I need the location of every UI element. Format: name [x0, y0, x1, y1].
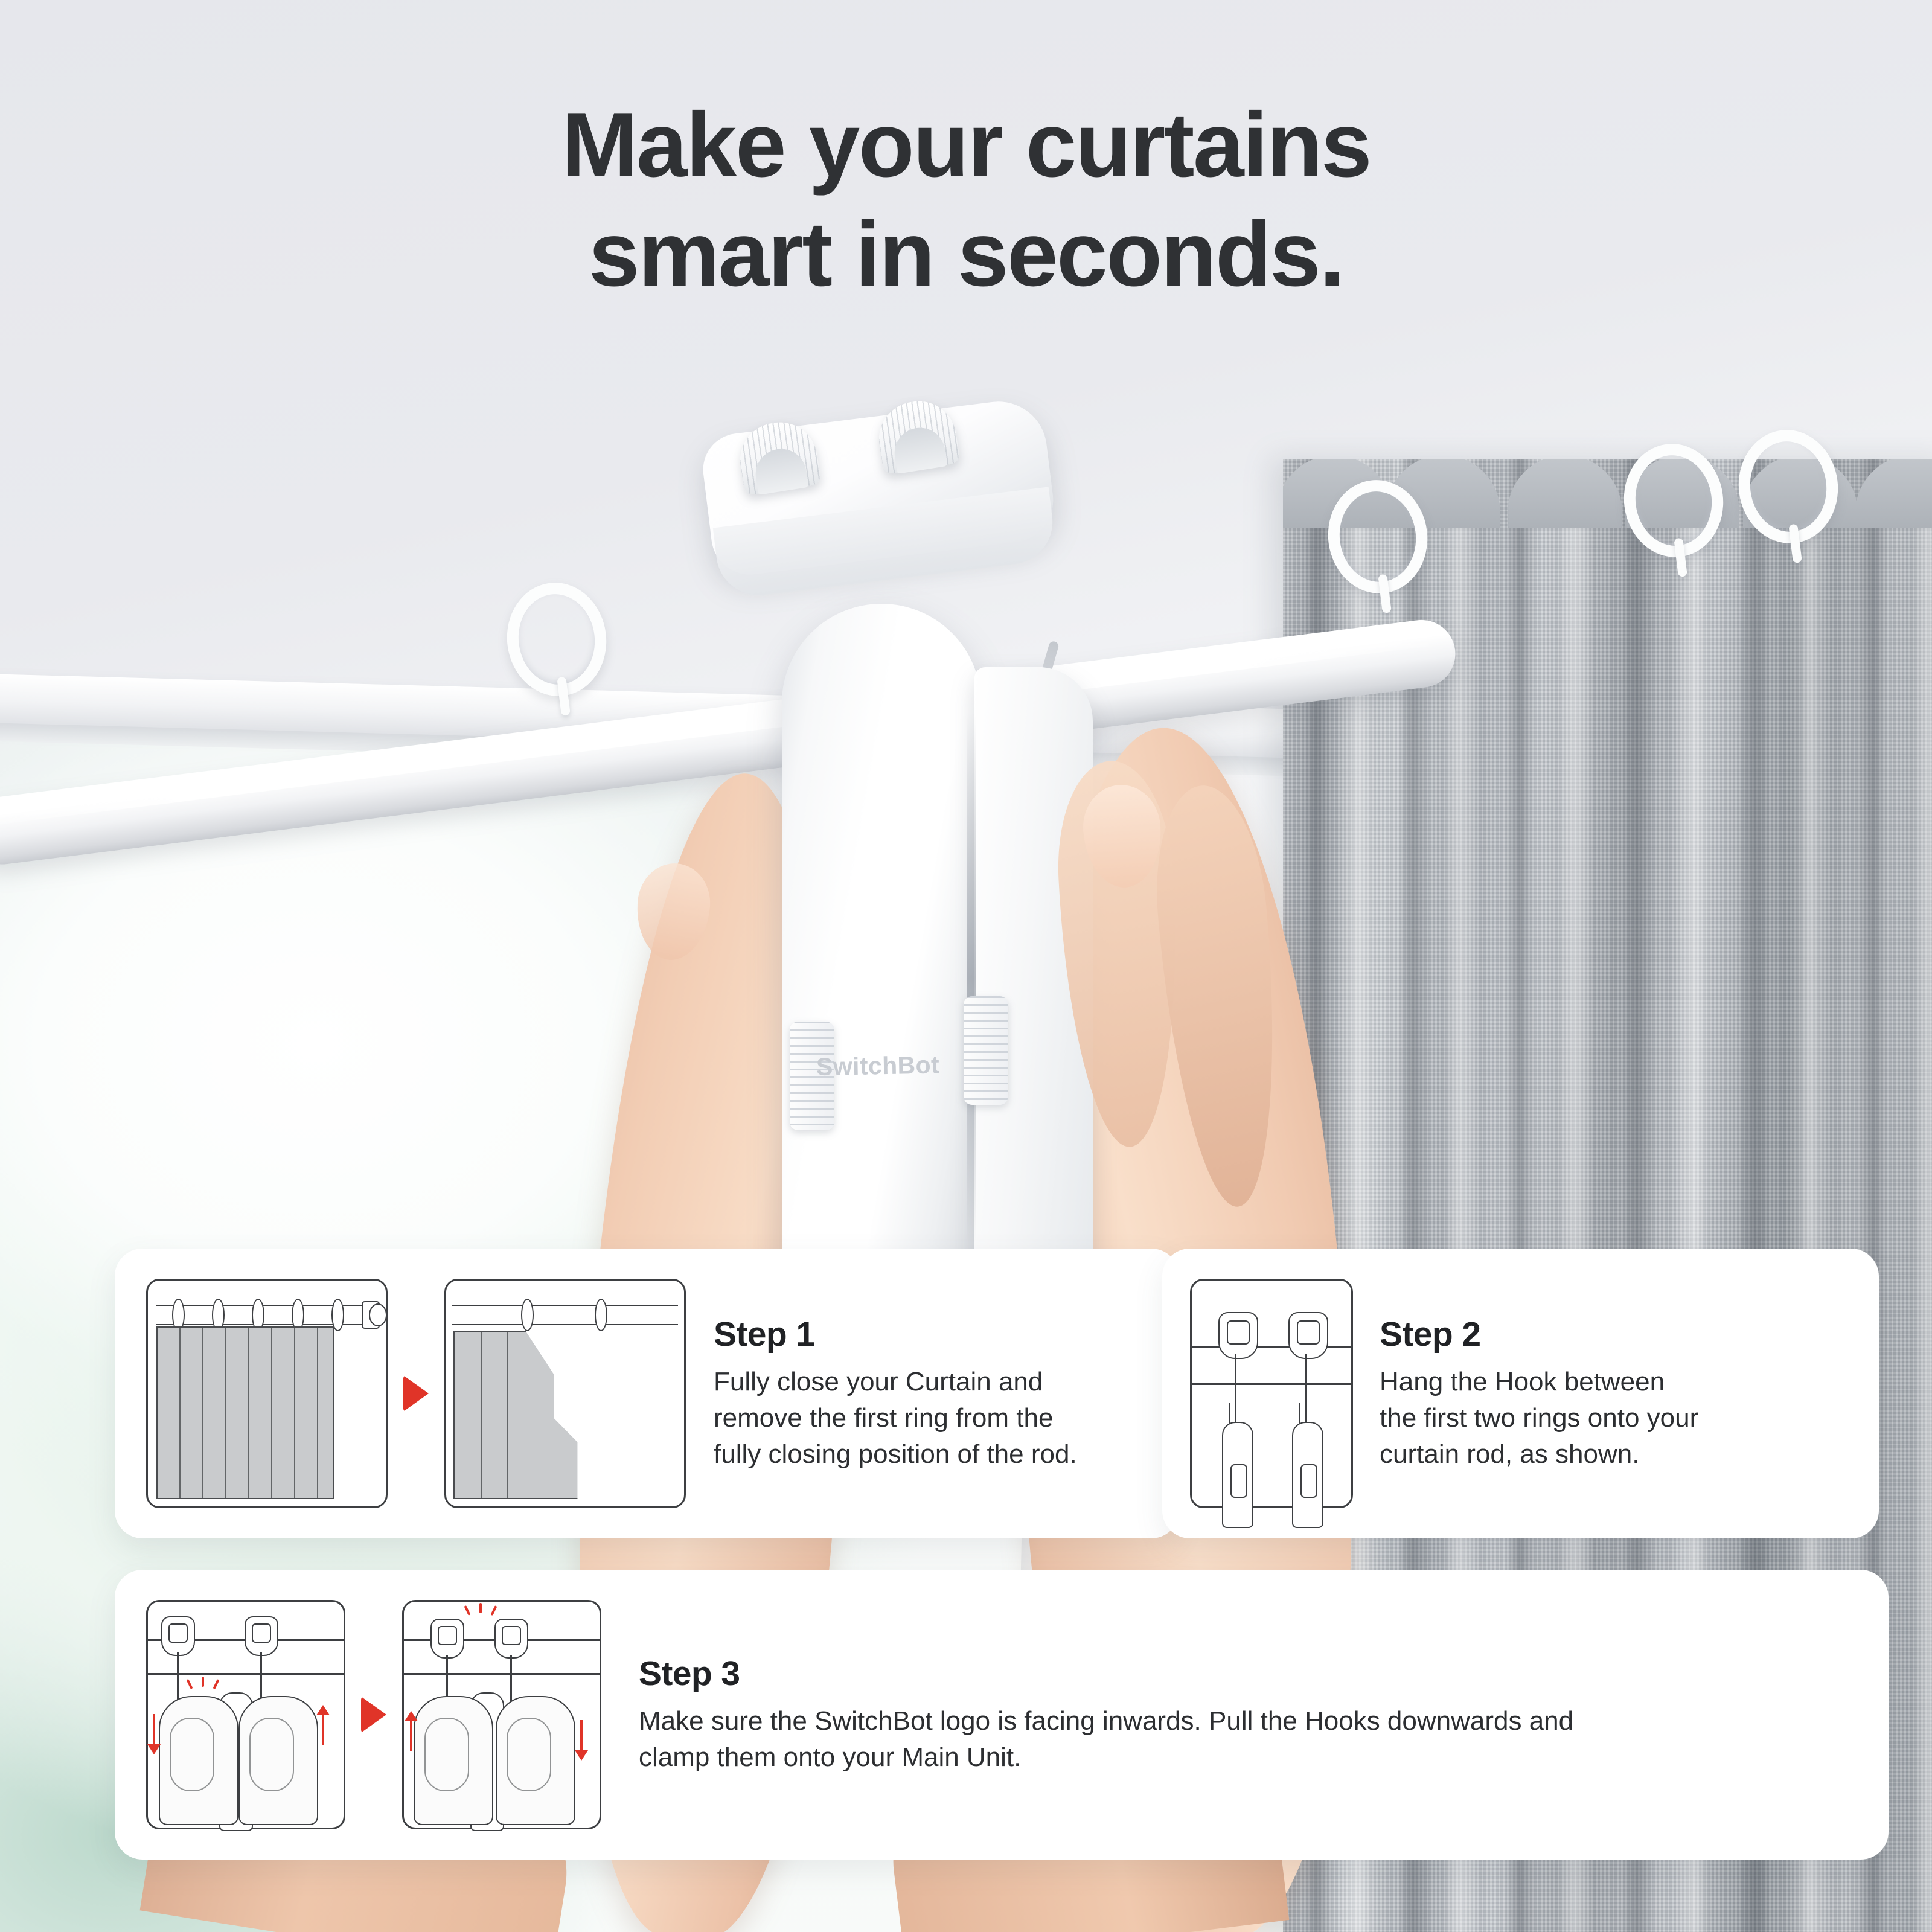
arrow-up-icon: [322, 1714, 324, 1745]
hook-illustration: [1286, 1312, 1331, 1359]
step-1-card: Step 1 Fully close your Curtain and remo…: [115, 1249, 1179, 1538]
step-1-diagram: [146, 1279, 686, 1508]
step-2-body: Hang the Hook between the first two ring…: [1380, 1364, 1706, 1473]
unit-seam-line: [967, 712, 976, 1244]
hook-illustration: [1216, 1312, 1261, 1359]
hooks-clamped-figure: [402, 1600, 601, 1829]
switchbot-logo: SwitchBot: [816, 1051, 956, 1081]
step-2-text: Step 2 Hang the Hook between the first t…: [1380, 1314, 1851, 1473]
headline-line-2: smart in seconds.: [0, 200, 1932, 309]
step-3-body: Make sure the SwitchBot logo is facing i…: [639, 1703, 1581, 1776]
pull-hooks-figure: [146, 1600, 345, 1829]
arrow-up-icon: [410, 1720, 412, 1751]
step-3-text: Step 3 Make sure the SwitchBot logo is f…: [639, 1654, 1855, 1776]
sparkle-icon: [462, 1603, 500, 1619]
step-3-progress-arrow-icon: [361, 1697, 386, 1733]
arrow-down-icon: [153, 1714, 155, 1745]
step-1-title: Step 1: [714, 1314, 1145, 1354]
step-2-title: Step 2: [1380, 1314, 1851, 1354]
sparkle-icon: [185, 1677, 222, 1692]
step-3-title: Step 3: [639, 1654, 1855, 1694]
closed-curtain-figure: [146, 1279, 388, 1508]
step-1-text: Step 1 Fully close your Curtain and remo…: [714, 1314, 1145, 1473]
unit-latch-right: [964, 996, 1008, 1105]
step-3-card: Step 3 Make sure the SwitchBot logo is f…: [115, 1570, 1889, 1860]
hooks-on-rail-figure: [1190, 1279, 1353, 1508]
step-2-card: Step 2 Hang the Hook between the first t…: [1162, 1249, 1879, 1538]
step-1-progress-arrow-icon: [403, 1375, 429, 1412]
arrow-down-icon: [580, 1720, 583, 1751]
opened-curtain-figure: [444, 1279, 686, 1508]
switchbot-main-unit-body: [782, 604, 981, 1286]
step-3-diagram: [146, 1600, 601, 1829]
step-2-diagram: [1190, 1279, 1353, 1508]
headline-line-1: Make your curtains: [0, 91, 1932, 200]
step-1-body: Fully close your Curtain and remove the …: [714, 1364, 1100, 1473]
page-title: Make your curtains smart in seconds.: [0, 91, 1932, 309]
